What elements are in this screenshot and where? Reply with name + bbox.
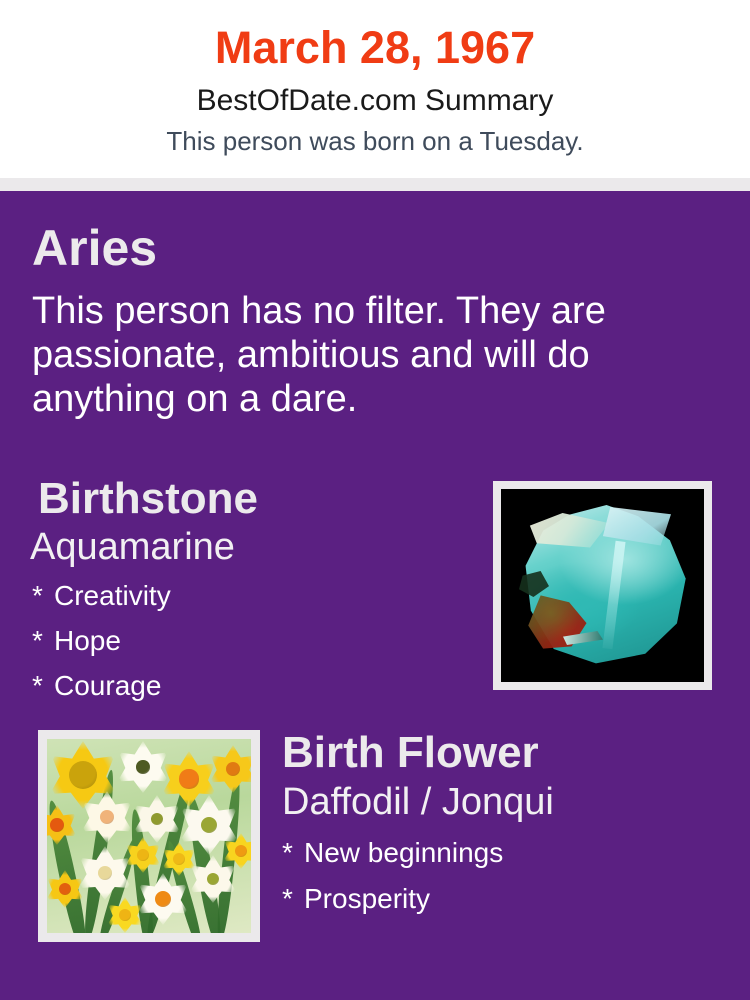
trait-label: Hope xyxy=(54,625,121,656)
daffodil-bloom xyxy=(223,833,251,869)
zodiac-sign-heading: Aries xyxy=(32,220,157,276)
list-item: *Creativity xyxy=(32,573,171,618)
birth-flower-photo-frame xyxy=(38,730,260,942)
bloom-center xyxy=(179,769,198,788)
header-divider xyxy=(0,178,750,191)
site-summary-subtitle: BestOfDate.com Summary xyxy=(0,83,750,119)
bullet-icon: * xyxy=(32,618,54,663)
trait-label: Creativity xyxy=(54,580,171,611)
birth-flower-trait-list: *New beginnings *Prosperity xyxy=(282,830,503,922)
daffodil-field-image xyxy=(47,739,251,933)
birthstone-heading: Birthstone xyxy=(38,473,258,525)
birth-flower-name: Daffodil / Jonqui xyxy=(282,780,554,824)
list-item: *Courage xyxy=(32,663,171,708)
daffodil-bloom xyxy=(209,745,251,793)
bullet-icon: * xyxy=(32,663,54,708)
daffodil-bloom xyxy=(47,870,84,908)
page-title: March 28, 1967 xyxy=(0,22,750,74)
list-item: *Prosperity xyxy=(282,876,503,922)
daffodil-bloom xyxy=(133,795,181,843)
daffodil-bloom xyxy=(107,897,143,933)
birthstone-trait-list: *Creativity *Hope *Courage xyxy=(32,573,171,708)
bloom-center xyxy=(50,818,64,832)
list-item: *New beginnings xyxy=(282,830,503,876)
birthstone-photo-frame xyxy=(493,481,712,690)
born-weekday-text: This person was born on a Tuesday. xyxy=(0,125,750,157)
trait-label: New beginnings xyxy=(304,837,503,868)
daffodil-bloom xyxy=(47,805,77,845)
header: March 28, 1967 BestOfDate.com Summary Th… xyxy=(0,0,750,178)
daffodil-bloom xyxy=(78,846,132,900)
list-item: *Hope xyxy=(32,618,171,663)
daffodil-bloom xyxy=(137,873,189,925)
aquamarine-crystal-image xyxy=(501,489,704,682)
trait-label: Courage xyxy=(54,670,161,701)
birthdate-summary-card: March 28, 1967 BestOfDate.com Summary Th… xyxy=(0,0,750,1000)
birth-flower-heading: Birth Flower xyxy=(282,727,539,779)
bloom-center xyxy=(136,760,150,774)
bullet-icon: * xyxy=(282,830,304,876)
summary-panel: Aries This person has no filter. They ar… xyxy=(0,191,750,1000)
birthstone-name: Aquamarine xyxy=(30,525,235,569)
zodiac-description: This person has no filter. They are pass… xyxy=(32,289,657,421)
bullet-icon: * xyxy=(32,573,54,618)
bloom-center xyxy=(98,866,112,880)
bullet-icon: * xyxy=(282,876,304,922)
trait-label: Prosperity xyxy=(304,883,430,914)
daffodil-bloom xyxy=(81,791,133,843)
